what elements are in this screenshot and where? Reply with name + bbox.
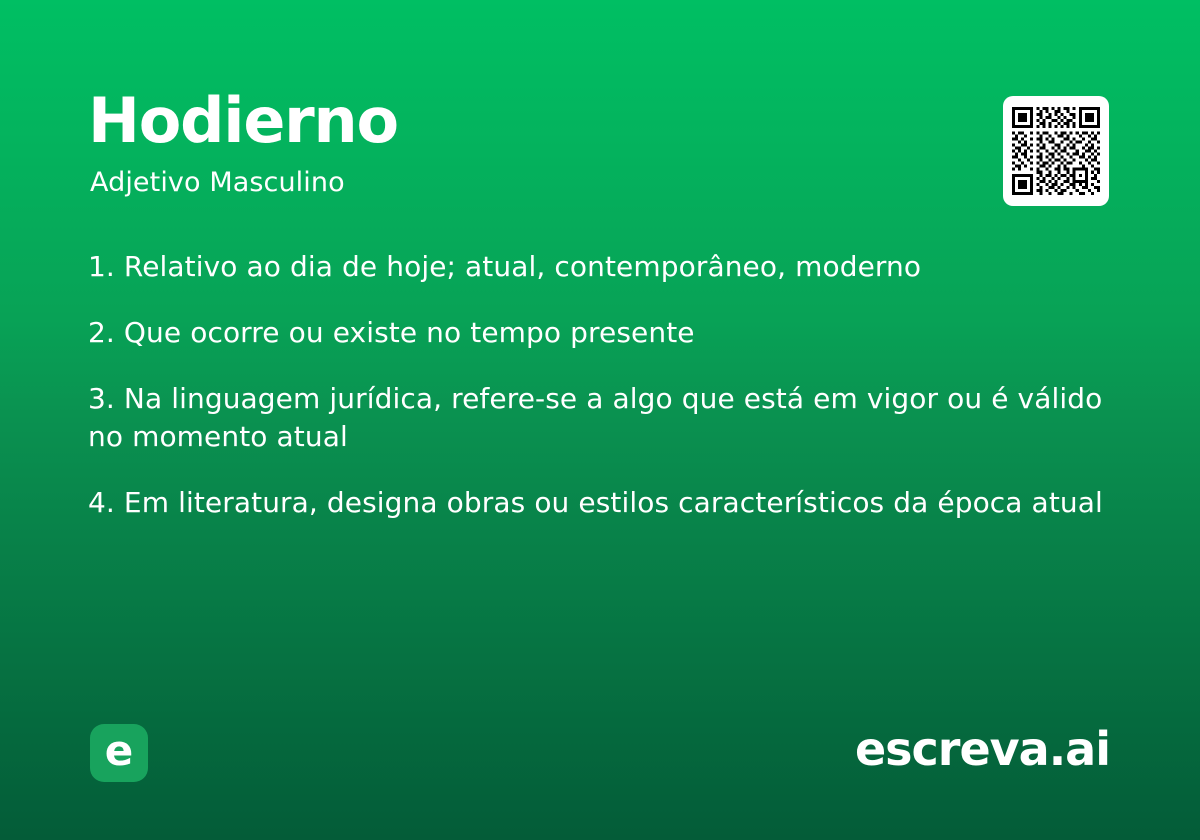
qr-code-icon[interactable]	[1003, 96, 1109, 206]
definition-list: 1. Relativo ao dia de hoje; atual, conte…	[88, 248, 1118, 522]
page-title: Hodierno	[88, 88, 398, 153]
list-item: 2. Que ocorre ou existe no tempo present…	[88, 314, 1118, 352]
brand-logo-icon: e	[90, 724, 148, 782]
word-class-label: Adjetivo Masculino	[90, 167, 345, 199]
brand-logo-letter: e	[105, 730, 134, 772]
list-item: 4. Em literatura, designa obras ou estil…	[88, 484, 1118, 522]
brand-wordmark: escreva.ai	[855, 722, 1110, 777]
list-item: 3. Na linguagem jurídica, refere-se a al…	[88, 380, 1118, 456]
list-item: 1. Relativo ao dia de hoje; atual, conte…	[88, 248, 1118, 286]
